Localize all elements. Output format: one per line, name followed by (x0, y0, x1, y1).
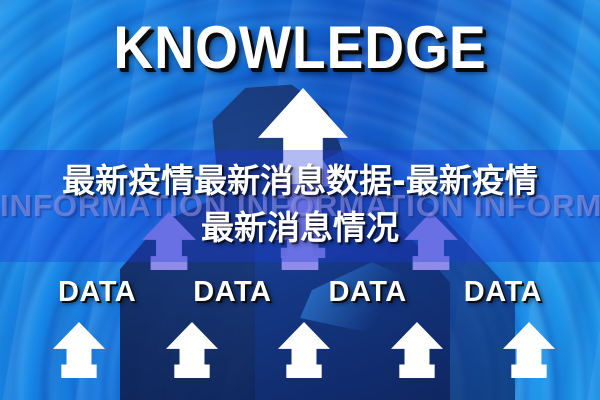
overlay-headline-line1: 最新疫情最新消息数据-最新疫情 (62, 161, 538, 200)
data-word: DATA (464, 276, 542, 309)
poster-canvas: KNOWLEDGE INFORMATION INFORMATION INFORM… (0, 0, 600, 400)
data-word-row: DATA DATA DATA DATA (58, 276, 542, 309)
data-word: DATA (193, 276, 271, 309)
overlay-headline-line2: 最新消息情况 (0, 205, 600, 252)
overlay-headline: 最新疫情最新消息数据-最新疫情 最新消息情况 (0, 158, 600, 252)
data-word: DATA (58, 276, 136, 309)
page-title: KNOWLEDGE (24, 18, 576, 78)
data-word: DATA (329, 276, 407, 309)
